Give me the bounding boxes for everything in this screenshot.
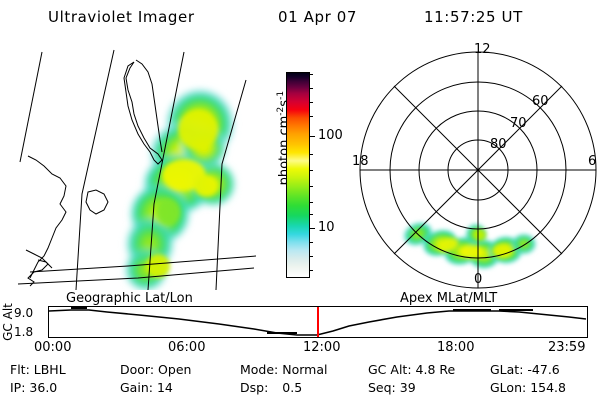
orbit-data-segment — [267, 332, 297, 334]
status-mode: Mode: Normal — [240, 362, 328, 377]
apex-polar-aurora-image — [356, 44, 600, 292]
status-mode-label: Mode: — [240, 362, 278, 377]
status-flt: Flt: LBHL — [10, 362, 66, 377]
observation-date: 01 Apr 07 — [278, 8, 357, 26]
orbit-altitude-panel: GC Alt 9.0 1.8 Geographic Lat/Lon Apex M… — [0, 292, 600, 354]
colorbar-minor-tick — [309, 270, 313, 271]
polar-mlat-label-60: 60 — [532, 94, 549, 109]
orbit-x-tick-0: 00:00 — [34, 340, 71, 355]
status-gcalt: GC Alt: 4.8 Re — [368, 362, 455, 377]
colorbar-minor-tick — [309, 214, 313, 215]
uv-imager-window: Ultraviolet Imager 01 Apr 07 11:57:25 UT — [0, 0, 600, 400]
colorbar-label-100: 100 — [318, 129, 343, 142]
instrument-title: Ultraviolet Imager — [48, 8, 195, 26]
colorbar-label-10: 10 — [318, 221, 335, 234]
status-glat-value: -47.6 — [527, 362, 559, 377]
status-gcalt-value: 4.8 Re — [416, 362, 456, 377]
status-ip-value: 36.0 — [29, 380, 57, 395]
status-flt-label: Flt: — [10, 362, 30, 377]
observation-time: 11:57:25 UT — [424, 8, 523, 26]
colorbar-minor-tick — [309, 186, 313, 187]
geographic-aurora-image — [8, 44, 256, 290]
polar-mlt-spokes — [360, 52, 596, 288]
status-dsp: Dsp: 0.5 — [240, 380, 302, 395]
status-door: Door: Open — [120, 362, 191, 377]
status-dsp-value: 0.5 — [282, 380, 302, 395]
polar-panel-caption: Apex MLat/MLT — [400, 291, 497, 306]
polar-mlt-label-0: 0 — [474, 272, 482, 287]
polar-mlat-label-80: 80 — [490, 137, 507, 152]
status-readout: Flt: LBHL Door: Open Mode: Normal GC Alt… — [0, 360, 600, 400]
colorbar-minor-tick — [309, 116, 313, 117]
orbit-x-tick-1: 06:00 — [168, 340, 205, 355]
status-gain-label: Gain: — [120, 380, 153, 395]
status-mode-value: Normal — [282, 362, 327, 377]
colorbar-minor-tick — [309, 242, 313, 243]
colorbar-minor-tick — [309, 256, 313, 257]
status-door-value: Open — [158, 362, 191, 377]
polar-mlat-label-70: 70 — [510, 116, 527, 131]
orbit-data-segment — [499, 309, 533, 311]
status-ip: IP: 36.0 — [10, 380, 57, 395]
orbit-y-axis-label: GC Alt — [1, 300, 15, 344]
geographic-panel-caption: Geographic Lat/Lon — [66, 291, 193, 306]
colorbar-minor-tick — [309, 74, 313, 75]
colorbar-minor-tick — [309, 102, 313, 103]
apex-polar-panel: 12 6 0 18 80 70 60 — [356, 44, 600, 292]
status-dsp-label: Dsp: — [240, 380, 268, 395]
status-door-label: Door: — [120, 362, 154, 377]
orbit-y-tick-low: 1.8 — [14, 325, 33, 339]
status-ip-label: IP: — [10, 380, 25, 395]
colorbar-axis-exp-1: -2 — [276, 107, 286, 116]
colorbar-minor-tick — [309, 170, 313, 171]
colorbar-axis-exp-2: -1 — [276, 91, 286, 100]
orbit-y-tick-high: 9.0 — [14, 306, 33, 320]
status-glon: GLon: 154.8 — [490, 380, 566, 395]
geographic-map-panel — [8, 44, 256, 290]
orbit-x-tick-4: 23:59 — [548, 340, 585, 355]
status-seq: Seq: 39 — [368, 380, 416, 395]
polar-mlt-label-12: 12 — [474, 42, 491, 57]
polar-mlt-label-6: 6 — [588, 154, 596, 169]
status-gcalt-label: GC Alt: — [368, 362, 412, 377]
orbit-track-plot — [48, 306, 588, 338]
status-glon-label: GLon: — [490, 380, 526, 395]
orbit-data-segment — [71, 307, 87, 309]
colorbar-tick-10 — [309, 228, 315, 229]
orbit-data-segment — [453, 309, 491, 311]
orbit-current-time-marker — [317, 307, 319, 337]
orbit-x-tick-2: 12:00 — [303, 340, 340, 355]
status-seq-value: 39 — [400, 380, 416, 395]
polar-mlt-label-18: 18 — [352, 154, 369, 169]
status-gain-value: 14 — [157, 380, 173, 395]
colorbar-minor-tick — [309, 88, 313, 89]
header-bar: Ultraviolet Imager 01 Apr 07 11:57:25 UT — [0, 6, 600, 32]
status-glat-label: GLat: — [490, 362, 523, 377]
status-glon-value: 154.8 — [530, 380, 566, 395]
colorbar-gradient — [286, 72, 310, 278]
colorbar-panel: photon cm-2s-1 100 10 — [258, 44, 358, 292]
orbit-x-tick-3: 18:00 — [437, 340, 474, 355]
status-flt-value: LBHL — [34, 362, 66, 377]
status-gain: Gain: 14 — [120, 380, 173, 395]
colorbar-minor-tick — [309, 154, 313, 155]
colorbar-minor-tick — [309, 202, 313, 203]
status-seq-label: Seq: — [368, 380, 396, 395]
status-glat: GLat: -47.6 — [490, 362, 560, 377]
colorbar-tick-100 — [309, 136, 315, 137]
